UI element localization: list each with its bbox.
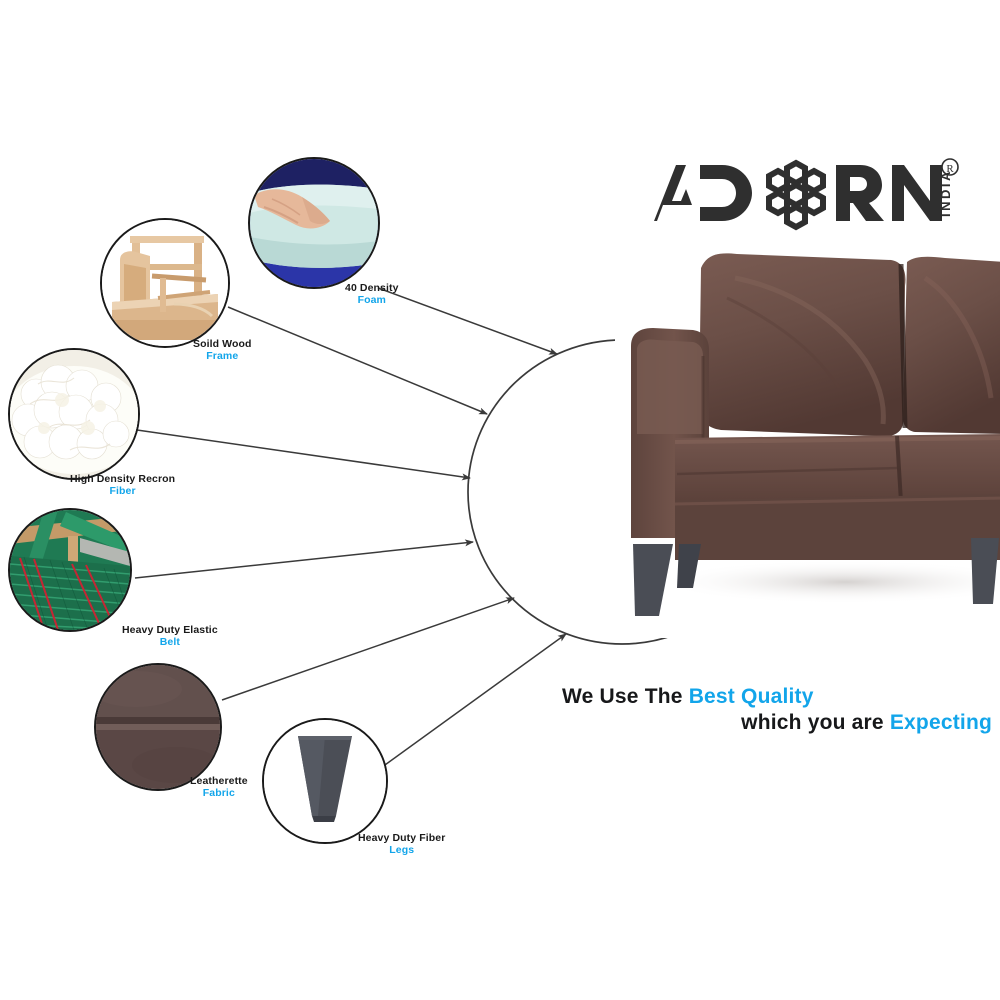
back-cushion-right: [903, 257, 1000, 434]
tagline-line-1: We Use The Best Quality: [562, 684, 992, 710]
legs-caption: Heavy Duty Fiber Legs: [358, 832, 445, 857]
elastic-webbing-photo: [8, 508, 132, 632]
adorn-india-logo: INDIA R: [648, 155, 960, 235]
logo-letter-d: [700, 165, 752, 221]
connector-belt: [135, 542, 473, 578]
foam-caption: 40 Density Foam: [345, 282, 399, 307]
frame-caption: Soild Wood Frame: [193, 338, 252, 363]
foam-subtitle: Foam: [345, 294, 399, 306]
tagline-line1-plain: We Use The: [562, 685, 689, 708]
infographic-canvas: 40 Density Foam: [0, 0, 1000, 1000]
belt-caption: Heavy Duty Elastic Belt: [122, 624, 218, 649]
svg-text:R: R: [946, 163, 954, 175]
logo-letter-a: [654, 165, 692, 221]
logo-india-text: INDIA: [938, 169, 953, 217]
fiber-title: High Density Recron: [70, 473, 175, 485]
belt-subtitle: Belt: [122, 636, 218, 648]
connector-frame: [228, 307, 487, 414]
tagline-line1-highlight: Best Quality: [689, 685, 814, 708]
fiber-caption: High Density Recron Fiber: [70, 473, 175, 498]
sofa-product-image: [615, 238, 1000, 638]
fabric-caption: Leatherette Fabric: [190, 775, 248, 800]
wooden-frame-photo: [100, 218, 230, 348]
connector-foam: [378, 288, 557, 354]
logo-letter-n: [892, 165, 942, 221]
frame-subtitle: Frame: [193, 350, 252, 362]
fiber-subtitle: Fiber: [70, 485, 175, 497]
foam-block-photo: [248, 157, 380, 289]
frame-title: Soild Wood: [193, 338, 252, 350]
foam-title: 40 Density: [345, 282, 399, 294]
fabric-subtitle: Fabric: [190, 787, 248, 799]
legs-title: Heavy Duty Fiber: [358, 832, 445, 844]
tagline: We Use The Best Quality which you are Ex…: [562, 684, 992, 735]
legs-subtitle: Legs: [358, 844, 445, 856]
belt-title: Heavy Duty Elastic: [122, 624, 218, 636]
connector-legs: [378, 634, 566, 770]
connector-fabric: [222, 598, 514, 700]
sofa-leg-photo: [262, 718, 388, 844]
fabric-title: Leatherette: [190, 775, 248, 787]
leatherette-swatch-photo: [94, 663, 222, 791]
tagline-line2-plain: which you are: [741, 711, 890, 734]
registered-trademark-icon: R: [942, 159, 958, 175]
logo-letter-r: [836, 165, 884, 221]
recron-fiber-photo: [8, 348, 140, 480]
hexagon-cluster-icon: [769, 163, 823, 227]
tagline-line-2: which you are Expecting: [562, 710, 992, 736]
connector-fiber: [137, 430, 470, 478]
tagline-line2-highlight: Expecting: [890, 711, 992, 734]
